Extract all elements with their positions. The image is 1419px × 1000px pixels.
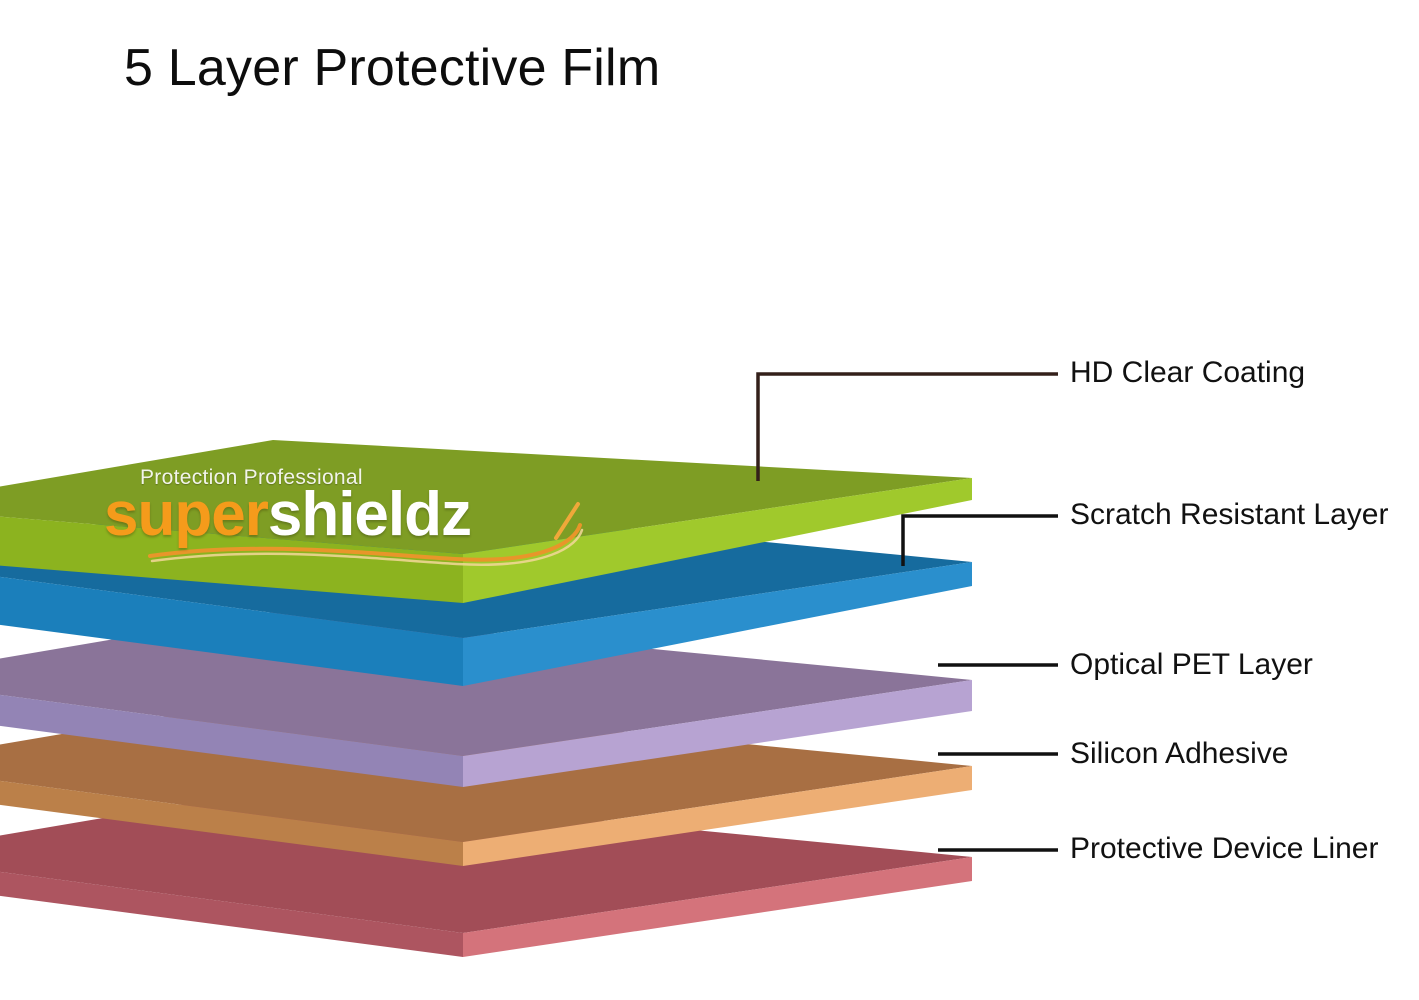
callout-label-scratch-resistant: Scratch Resistant Layer bbox=[1070, 498, 1388, 532]
callout-label-silicon-adhesive: Silicon Adhesive bbox=[1070, 737, 1288, 771]
diagram-canvas: 5 Layer Protective Film bbox=[0, 0, 1419, 1000]
callout-label-hd-clear-coating: HD Clear Coating bbox=[1070, 356, 1305, 390]
leader-line-hd-clear-coating bbox=[758, 374, 1058, 481]
callout-label-optical-pet: Optical PET Layer bbox=[1070, 648, 1313, 682]
callout-label-protective-device-liner: Protective Device Liner bbox=[1070, 832, 1378, 866]
